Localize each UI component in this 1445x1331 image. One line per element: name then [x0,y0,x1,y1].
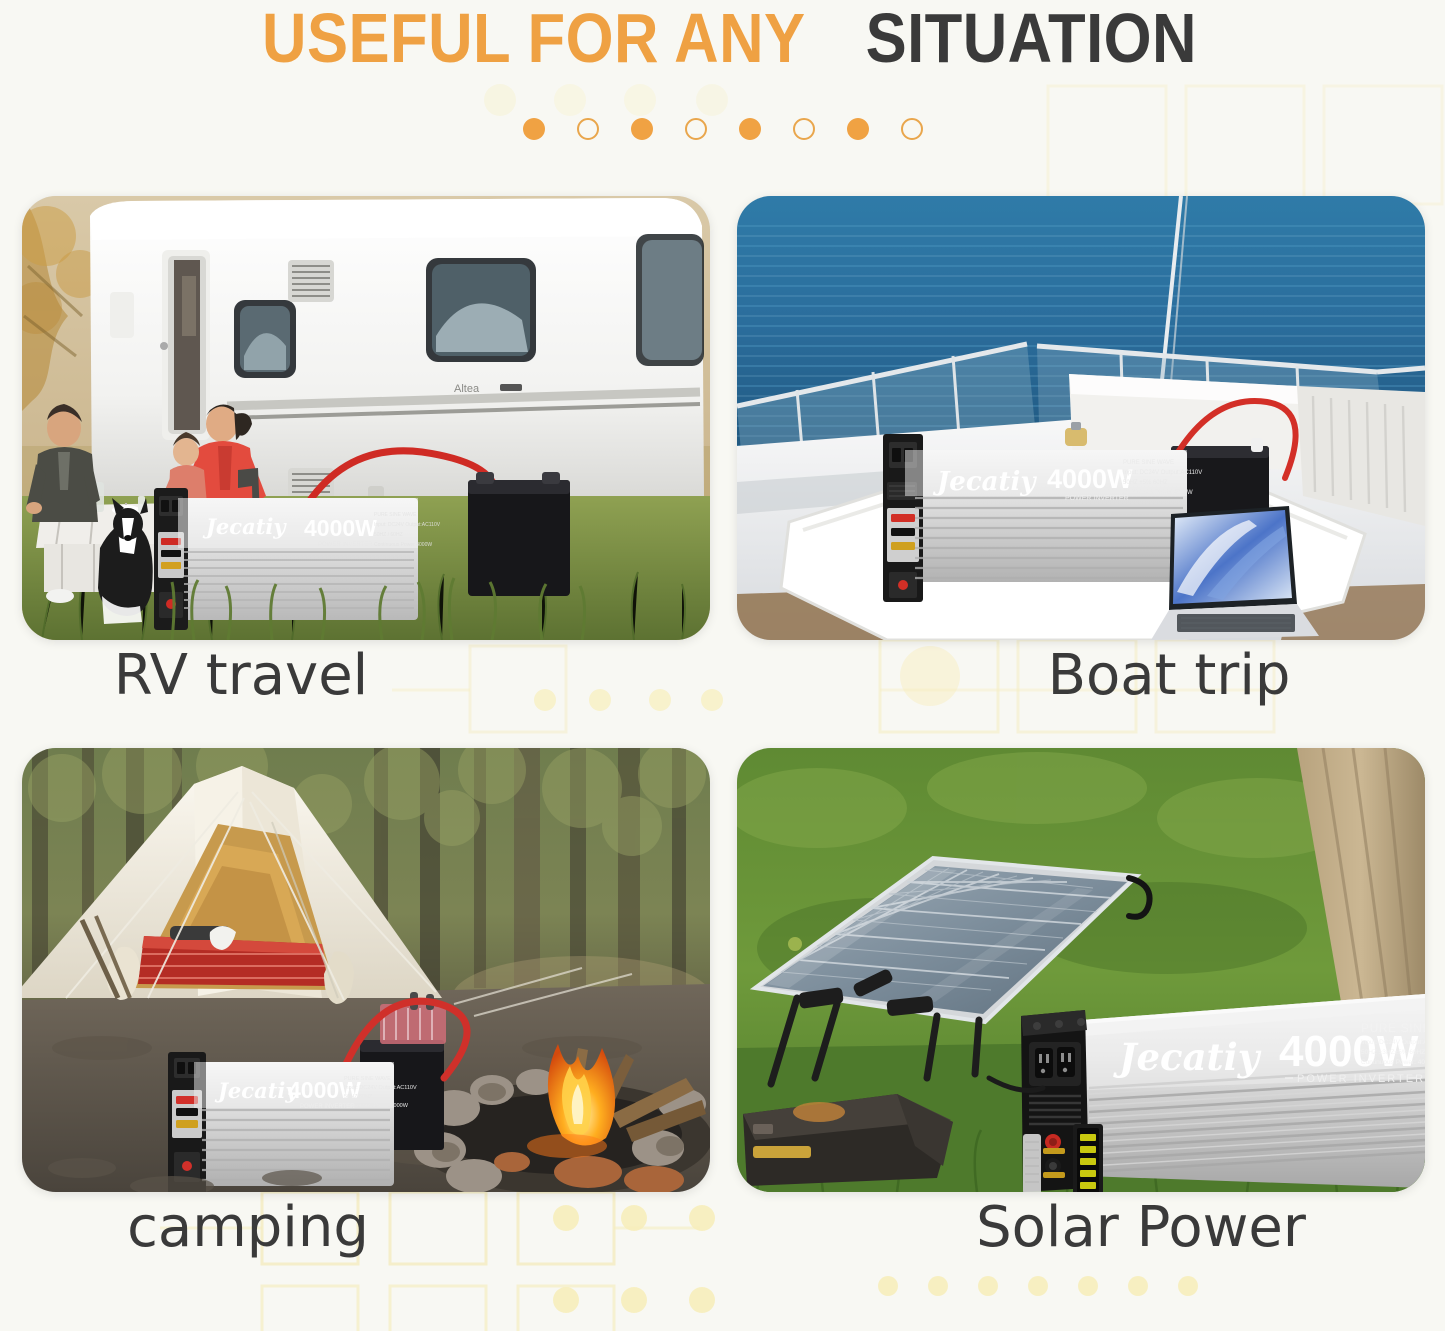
photo-camping: Jecatiy 4000W POWER INVERTER PURE SINE W… [22,748,710,1192]
photo-boat-trip: Jecatiy 4000W POWER INVERTER PURE SINE W… [737,196,1425,640]
svg-text:4000W: 4000W [1047,464,1133,494]
svg-text:Jecatiy: Jecatiy [202,514,287,539]
dot-indicator-5 [739,118,761,140]
dot-indicator-7 [847,118,869,140]
panel-rv-travel: Altea [22,196,710,640]
svg-text:50HZ / 60HZ: 50HZ / 60HZ [374,532,403,538]
photo-solar-power: Jecatiy 4000W POWER INVERTER PURE SINE W… [737,748,1425,1192]
panel-boat-trip: Jecatiy 4000W POWER INVERTER PURE SINE W… [737,196,1425,640]
svg-text:Continuous Power: 4000W/8000W: Continuous Power: 4000W/8000W [1361,1059,1425,1066]
panel-solar-power: Jecatiy 4000W POWER INVERTER PURE SINE W… [737,748,1425,1192]
svg-text:PURE SINE WAVE: PURE SINE WAVE [1123,460,1174,466]
svg-text:PURE SINE WAVE: PURE SINE WAVE [374,512,417,518]
svg-text:POWER INVERTER: POWER INVERTER [318,542,373,548]
marketing-banner: USEFUL FOR ANY SITUATION [0,0,1445,1331]
svg-text:Continuous Power 4000W: Continuous Power 4000W [344,1103,409,1109]
svg-text:Input: DC24V Output:AC110V: Input: DC24V Output:AC110V [1123,470,1202,476]
caption-solar-power: Solar Power [797,1196,1445,1260]
svg-text:Jecatiy: Jecatiy [932,467,1037,497]
photo-rv-travel: Altea [22,196,710,640]
svg-text:POWER INVERTER: POWER INVERTER [1065,495,1129,502]
svg-text:Input: DC24V Output:AC110V: Input: DC24V Output:AC110V [374,522,441,528]
caption-rv-travel: RV travel [0,644,585,708]
caption-camping: camping [0,1196,592,1260]
page-title: USEFUL FOR ANY SITUATION [0,0,1445,76]
dot-indicator-4 [685,118,707,140]
svg-text:Continuous Power 4000W: Continuous Power 4000W [1123,490,1193,496]
svg-text:Jecatiy: Jecatiy [1113,1035,1262,1079]
svg-text:PURE SINE WAVE: PURE SINE WAVE [344,1076,391,1082]
scenario-panel-grid: Altea [22,196,1425,1196]
page-title-secondary: SITUATION [866,3,1197,73]
svg-text:Jecatiy: Jecatiy [214,1078,299,1103]
svg-text:Continuous Power 4000W: Continuous Power 4000W [374,542,432,548]
caption-boat-trip: Boat trip [825,644,1445,708]
svg-text:50HZ ±3HZ±5% 60HZ: 50HZ ±3HZ±5% 60HZ [1361,1049,1425,1056]
svg-text:Input: DC24V Output:AC110V: Input: DC24V Output:AC110V [1361,1039,1425,1046]
dot-indicator-8 [901,118,923,140]
panel-camping: Jecatiy 4000W POWER INVERTER PURE SINE W… [22,748,710,1192]
svg-text:50HZ ±5% 60HZ: 50HZ ±5% 60HZ [1123,480,1168,486]
page-title-primary: USEFUL FOR ANY [262,3,805,73]
decorative-dot-row [0,118,1445,140]
dot-indicator-6 [793,118,815,140]
svg-text:POWER INVERTER: POWER INVERTER [1297,1073,1425,1085]
svg-text:4000W: 4000W [304,515,377,541]
svg-text:PURE SINE WAVE: PURE SINE WAVE [1361,1021,1425,1035]
dot-indicator-3 [631,118,653,140]
svg-text:Altea: Altea [454,383,480,395]
dot-indicator-1 [523,118,545,140]
dot-indicator-2 [577,118,599,140]
svg-text:50HZ 60HZ: 50HZ 60HZ [344,1094,373,1100]
svg-text:Input: DC24V Output:AC110V: Input: DC24V Output:AC110V [344,1085,417,1091]
